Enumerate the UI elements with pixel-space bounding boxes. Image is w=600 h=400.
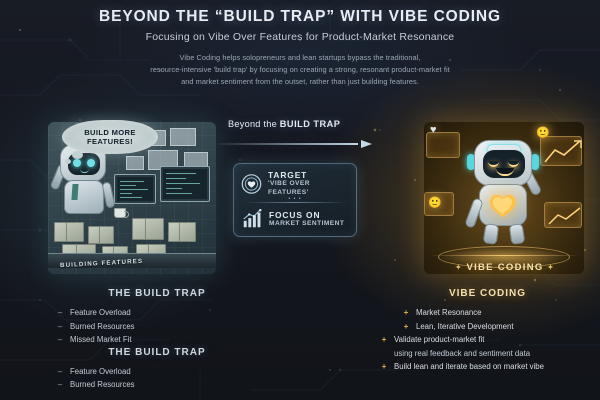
bar-chart-growth-icon <box>241 208 263 230</box>
list-marker: + <box>402 306 410 320</box>
list-item: – Burned Resources <box>52 320 262 334</box>
robot-frown <box>80 169 89 173</box>
robot-eye-right <box>87 159 95 167</box>
robot-body <box>64 180 104 214</box>
intro-line-2: resource-intensive 'build trap' by focus… <box>104 64 496 76</box>
speech-bubble-line-1: BUILD MORE <box>84 128 136 138</box>
badge-focus-text: FOCUS ON MARKET SENTIMENT <box>269 210 344 229</box>
list-marker: – <box>56 333 64 347</box>
robot-eye-right <box>508 161 519 167</box>
robot-smile <box>496 168 514 176</box>
list-item-label: Missed Market Fit <box>70 333 132 347</box>
build-trap-heading: THE BUILD TRAP <box>52 288 262 299</box>
list-item-label: Lean, Iterative Development <box>416 320 514 334</box>
badge-target[interactable]: TARGET 'VIBE OVER FEATURES' <box>241 170 349 197</box>
badge-focus-subtitle: MARKET SENTIMENT <box>269 220 344 229</box>
sticky-note <box>170 128 196 146</box>
vibe-coding-heading: VIBE CODING <box>380 288 595 299</box>
feature-box <box>168 222 196 242</box>
badge-target-text: TARGET 'VIBE OVER FEATURES' <box>268 170 349 197</box>
badge-target-subtitle: 'VIBE OVER FEATURES' <box>268 180 349 197</box>
laptop-screen <box>160 166 210 202</box>
robot-ear-right <box>531 154 539 170</box>
robot-leg-right <box>509 223 526 245</box>
infographic-poster: BEYOND THE “BUILD TRAP” WITH VIBE CODING… <box>0 0 600 400</box>
list-item: – Burned Resources <box>52 378 262 392</box>
transition-label-prefix: Beyond the <box>228 119 280 129</box>
trend-line-icon <box>546 204 584 228</box>
list-item: – Missed Market Fit <box>52 333 262 347</box>
transition-arrow-icon <box>218 140 372 148</box>
list-marker: – <box>56 378 64 392</box>
vibe-coding-list: VIBE CODING + Market Resonance + Lean, I… <box>380 288 595 374</box>
build-trap-list: THE BUILD TRAP – Feature Overload – Burn… <box>52 288 262 392</box>
smiley-emoji: 🙂 <box>428 196 442 209</box>
list-item: – Feature Overload <box>52 306 262 320</box>
vibe-coding-banner-label: VIBE CODING <box>466 262 543 273</box>
transition-label-strong: BUILD TRAP <box>280 119 341 129</box>
list-item: – Feature Overload <box>52 365 262 379</box>
vibe-coding-scene: 🙂 ♥ 🙂 <box>424 122 584 274</box>
list-item: + Market Resonance <box>380 306 595 320</box>
happy-robot <box>460 140 546 244</box>
vibe-coding-banner: ✦ VIBE CODING ✦ <box>430 262 580 273</box>
list-item-label: Burned Resources <box>70 320 135 334</box>
robot-eye-left <box>73 159 81 167</box>
badge-focus-title: FOCUS ON <box>269 210 344 220</box>
list-item-subtext: using real feedback and sentiment data <box>394 347 530 361</box>
feature-box <box>54 222 84 242</box>
sticky-note <box>126 156 144 170</box>
glowing-heart-icon <box>488 192 518 219</box>
list-item-label: Market Resonance <box>416 306 481 320</box>
badge-target-title: TARGET <box>268 170 349 180</box>
sparkle-icon-right: ✦ <box>548 264 555 271</box>
list-marker: + <box>380 360 388 374</box>
trend-line-icon <box>542 138 584 166</box>
list-item: + Build lean and iterate based on market… <box>380 360 595 374</box>
list-item-label: Build lean and iterate based on market v… <box>394 360 544 374</box>
list-item-label: Feature Overload <box>70 306 131 320</box>
intro-paragraph: Vibe Coding helps solopreneurs and lean … <box>104 52 496 89</box>
robot-necktie <box>71 184 78 200</box>
heart-emoji: ♥ <box>430 124 437 136</box>
robot-head <box>474 140 532 186</box>
smiley-emoji: 🙂 <box>536 126 550 139</box>
robot-leg-left <box>483 223 500 245</box>
list-item-label: Burned Resources <box>70 378 135 392</box>
header-block: BEYOND THE “BUILD TRAP” WITH VIBE CODING… <box>0 8 600 89</box>
list-marker: – <box>56 306 64 320</box>
sad-robot <box>54 144 114 218</box>
arrow-shaft <box>218 143 358 145</box>
list-marker: + <box>380 333 388 360</box>
list-item: + Lean, Iterative Development <box>380 320 595 334</box>
badge-divider <box>243 202 347 203</box>
arrow-head <box>361 140 372 148</box>
transition-label: Beyond the BUILD TRAP <box>228 119 340 129</box>
intro-line-1: Vibe Coding helps solopreneurs and lean … <box>104 52 496 64</box>
badge-focus[interactable]: FOCUS ON MARKET SENTIMENT <box>241 208 349 230</box>
speech-bubble-line-2: FEATURES! <box>84 137 136 147</box>
code-editor-display <box>117 177 153 201</box>
laptop-screen <box>114 174 156 204</box>
code-editor-display <box>163 169 207 199</box>
robot-face-screen <box>483 150 525 178</box>
page-title: BEYOND THE “BUILD TRAP” WITH VIBE CODING <box>0 8 600 26</box>
list-marker: + <box>402 320 410 334</box>
page-subtitle: Focusing on Vibe Over Features for Produ… <box>0 31 600 43</box>
coffee-mug <box>114 208 126 218</box>
list-marker: – <box>56 320 64 334</box>
speech-bubble: BUILD MORE FEATURES! <box>62 120 158 154</box>
list-item-text: Validate product-market fit <box>394 335 484 344</box>
banner-divider <box>430 255 580 256</box>
feature-box <box>88 226 114 244</box>
robot-eye-left <box>488 161 499 167</box>
sparkle-icon-left: ✦ <box>455 264 462 271</box>
list-item: + Validate product-market fit using real… <box>380 333 595 360</box>
list-marker: – <box>56 365 64 379</box>
feature-box <box>132 218 164 240</box>
target-heart-icon <box>241 173 262 195</box>
list-item-label: Feature Overload <box>70 365 131 379</box>
build-trap-heading-repeat: THE BUILD TRAP <box>52 347 262 358</box>
key-principles-panel: TARGET 'VIBE OVER FEATURES' FOCUS ON MAR… <box>233 163 357 237</box>
intro-line-3: and market sentiment from the outset, ra… <box>104 76 496 88</box>
list-item-label: Validate product-market fit using real f… <box>394 333 530 360</box>
